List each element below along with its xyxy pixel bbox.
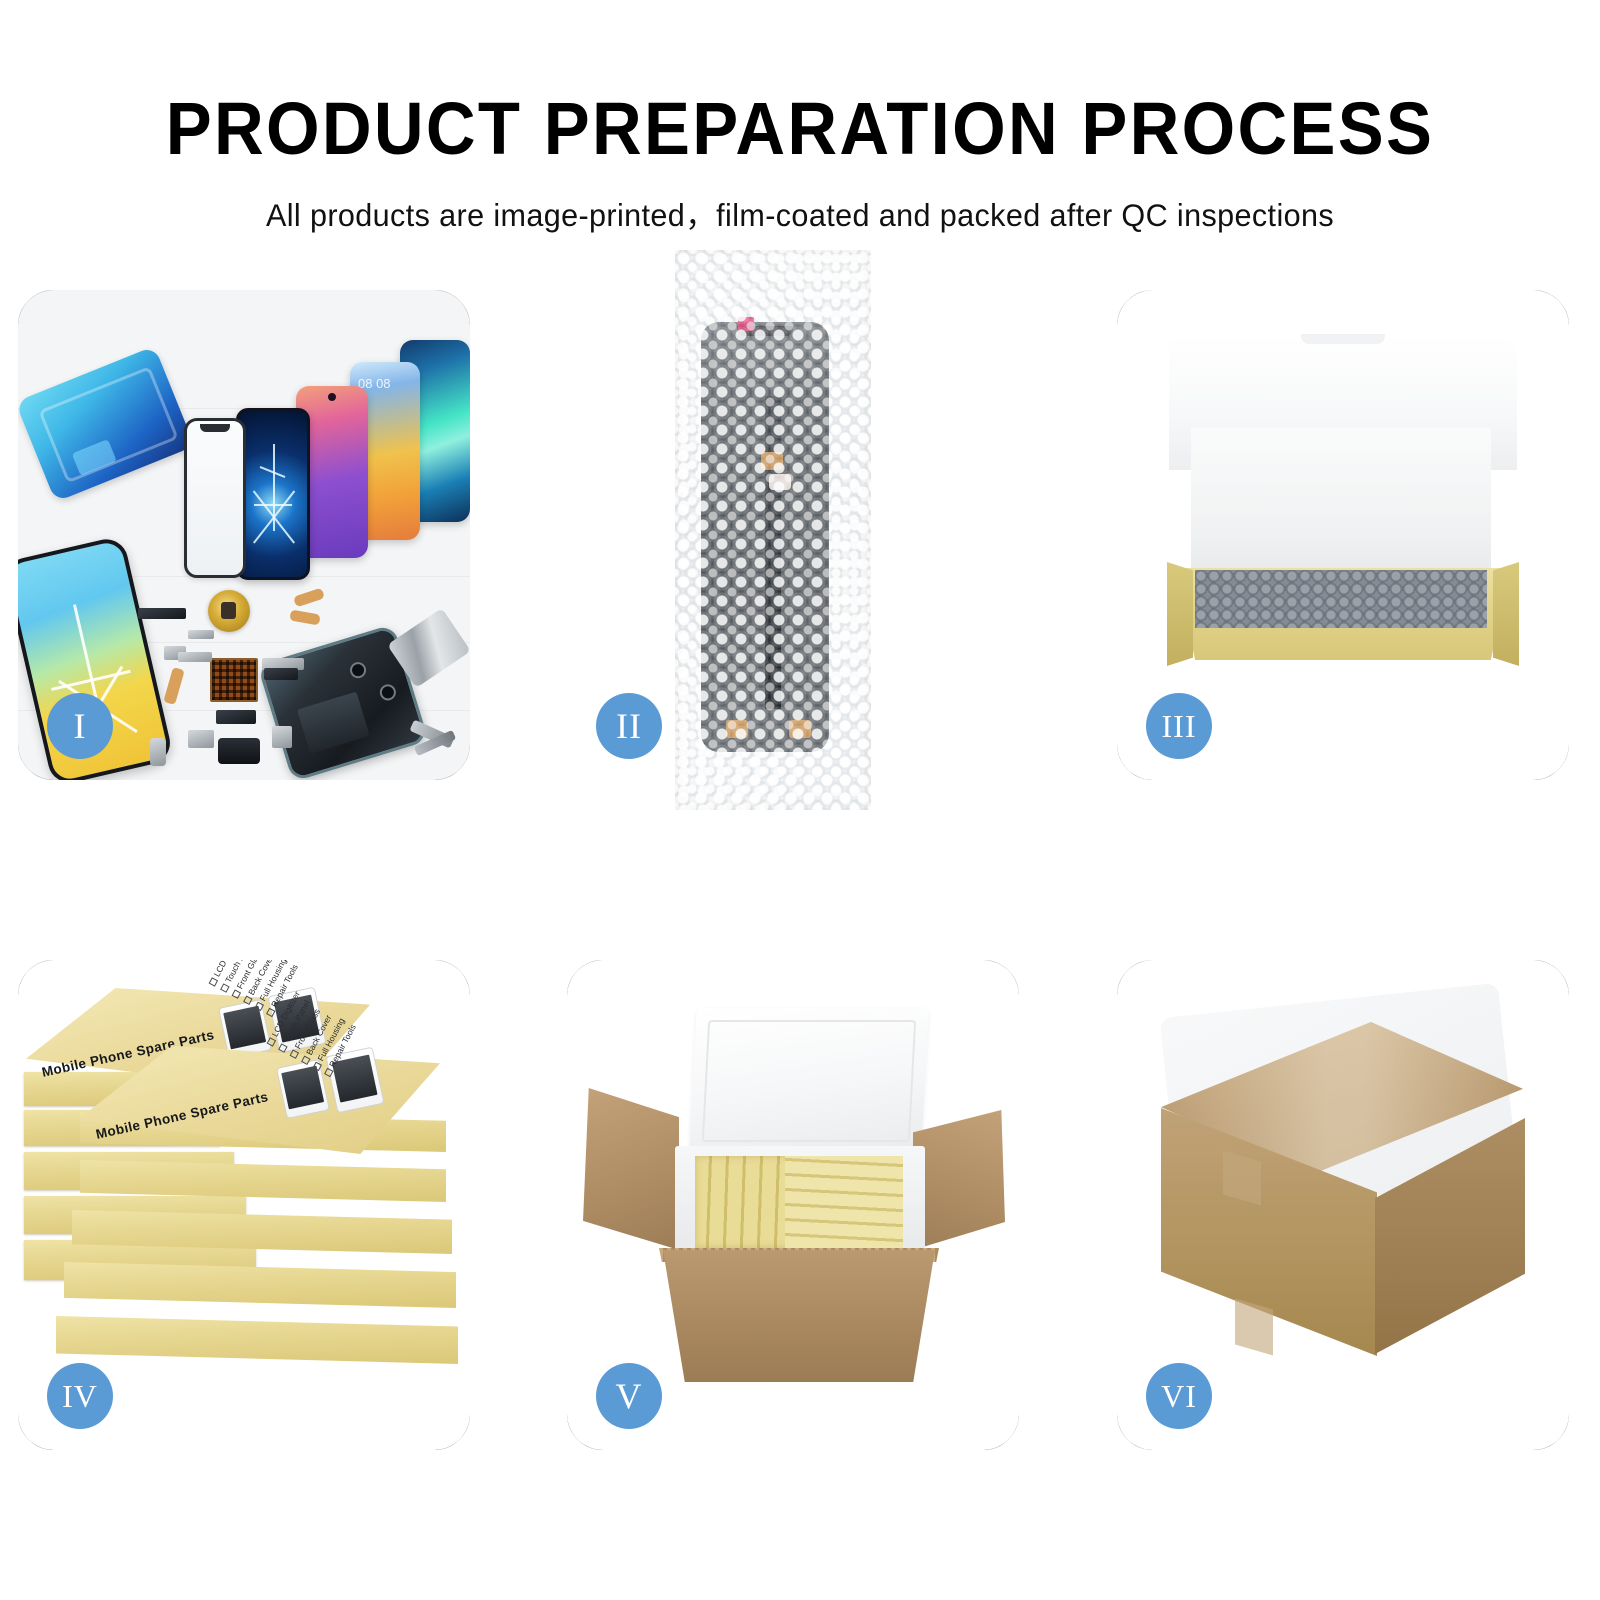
camera-bracket-part xyxy=(188,730,214,748)
ic-chip-part xyxy=(210,658,258,702)
step-badge-5: V xyxy=(596,1363,662,1429)
gold-boxes-packed-right xyxy=(785,1156,903,1248)
page-title: PRODUCT PREPARATION PROCESS xyxy=(56,92,1544,166)
loudspeaker-part xyxy=(218,738,260,764)
box-left-flap xyxy=(1167,562,1193,666)
carton-left-flap xyxy=(583,1088,679,1250)
white-pad xyxy=(769,474,791,490)
speaker-part xyxy=(216,710,256,724)
wireless-charging-coil-part xyxy=(208,590,250,632)
vibrator-part xyxy=(272,726,292,748)
sensor-flex-part-b xyxy=(264,668,298,680)
bracket-part-c xyxy=(178,652,212,662)
box-right-flap xyxy=(1493,562,1519,666)
qc-sticker xyxy=(738,317,754,331)
process-steps-grid: 08 08 xyxy=(18,290,1582,1430)
carton-tape-lower xyxy=(1235,1299,1273,1356)
bubble-wrap-sheet xyxy=(675,250,871,810)
foam-box-lid xyxy=(689,1008,929,1154)
connector-right xyxy=(789,720,811,738)
step-card-1: 08 08 xyxy=(18,290,470,780)
step-badge-6: VI xyxy=(1146,1363,1212,1429)
connector-top xyxy=(761,452,783,470)
box-inner-white-panel xyxy=(1191,428,1491,578)
carton-right-flap xyxy=(913,1110,1005,1250)
flex-cable-part-b xyxy=(289,609,320,625)
bracket-part-a xyxy=(188,630,214,639)
step-card-6: VI xyxy=(1117,960,1569,1450)
adhesive-frame-part xyxy=(18,346,195,502)
step-badge-4: IV xyxy=(47,1363,113,1429)
page-subtitle: All products are image-printed，film-coat… xyxy=(24,190,1576,236)
anti-static-foam xyxy=(1195,570,1487,628)
step-card-2: II xyxy=(567,290,1019,780)
step-card-3: III xyxy=(1117,290,1569,780)
step-badge-3: III xyxy=(1146,693,1212,759)
front-glass-part xyxy=(184,418,246,578)
stacked-box-front-4 xyxy=(64,1262,456,1308)
step-badge-1: I xyxy=(47,693,113,759)
flex-cable-part-a xyxy=(293,588,325,608)
sim-tray-part xyxy=(150,738,166,766)
volume-flex-part xyxy=(163,667,184,705)
stacked-box-front-5 xyxy=(56,1316,458,1364)
product-preparation-process-page: PRODUCT PREPARATION PROCESS All products… xyxy=(0,0,1600,1600)
step-card-4: Mobile Phone Spare Parts LCD Digitizer T… xyxy=(18,960,470,1450)
earpiece-mesh-part xyxy=(138,608,186,619)
connector-left xyxy=(726,720,748,738)
step-badge-2: II xyxy=(596,693,662,759)
header: PRODUCT PREPARATION PROCESS All products… xyxy=(0,0,1600,236)
display-ribbon-cable xyxy=(765,396,781,710)
step-card-5: V xyxy=(567,960,1019,1450)
phone-display-cracked xyxy=(236,408,310,580)
carton-front-face xyxy=(663,1250,935,1382)
